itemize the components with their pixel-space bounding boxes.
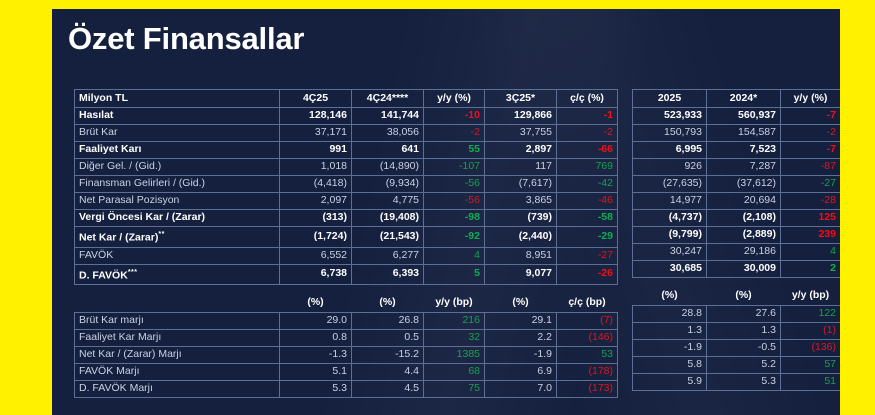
cell-value-3-2: -87 [781, 159, 841, 176]
cell-value-faaliyet-kari-0: 991 [280, 142, 352, 159]
cell-value-5-0: 14,977 [633, 193, 707, 210]
cell-margin-2-0: -1.9 [633, 340, 707, 357]
cell-margin-d-favok-marji-4: (173) [557, 381, 618, 398]
table-row: Brüt Kar marjı29.026.821629.1(7) [75, 313, 618, 330]
cell-value-faaliyet-kari-4: -66 [557, 142, 618, 159]
cell-value-d-favok-3: 9,077 [485, 264, 557, 285]
column-header-3c25: 3Ç25* [485, 90, 557, 108]
cell-margin-0-1: 27.6 [707, 306, 781, 323]
row-label-hasilat: Hasılat [75, 108, 280, 125]
cell-margin-4-2: 51 [781, 374, 841, 391]
cell-value-finansman-gelirleri-gid-2: -56 [424, 176, 485, 193]
cell-value-hasilat-2: -10 [424, 108, 485, 125]
cell-margin-1-2: (1) [781, 323, 841, 340]
cell-value-net-kar-zarar-2: -92 [424, 227, 485, 248]
cell-value-3-0: 926 [633, 159, 707, 176]
cell-margin-faaliyet-kar-marji-1: 0.5 [352, 330, 424, 347]
unit-header-5: ç/ç (bp) [557, 295, 618, 313]
table-row: Faaliyet Kar Marjı0.80.5322.2(146) [75, 330, 618, 347]
table-row: 28.827.6122 [633, 306, 841, 323]
cell-value-diger-gel-gid-1: (14,890) [352, 159, 424, 176]
cell-value-9-1: 30,009 [707, 261, 781, 278]
cell-value-vergi-oncesi-kar-zarar-4: -58 [557, 210, 618, 227]
cell-value-favok-4: -27 [557, 247, 618, 264]
cell-margin-net-kar-zarar-marji-3: -1.9 [485, 347, 557, 364]
table-row: -1.9-0.5(136) [633, 340, 841, 357]
cell-value-vergi-oncesi-kar-zarar-3: (739) [485, 210, 557, 227]
cell-value-6-1: (2,108) [707, 210, 781, 227]
cell-margin-brut-kar-marji-4: (7) [557, 313, 618, 330]
cell-margin-d-favok-marji-2: 75 [424, 381, 485, 398]
cell-value-8-1: 29,186 [707, 244, 781, 261]
cell-value-hasilat-0: 128,146 [280, 108, 352, 125]
cell-value-diger-gel-gid-2: -107 [424, 159, 485, 176]
cell-value-hasilat-4: -1 [557, 108, 618, 125]
table-row: (9,799)(2,889)239 [633, 227, 841, 244]
cell-value-finansman-gelirleri-gid-3: (7,617) [485, 176, 557, 193]
tables-container: Milyon TL4Ç254Ç24****y/y (%)3Ç25*ç/ç (%)… [74, 89, 836, 398]
cell-value-diger-gel-gid-0: 1,018 [280, 159, 352, 176]
table-row: 14,97720,694-28 [633, 193, 841, 210]
cell-value-7-0: (9,799) [633, 227, 707, 244]
cell-margin-net-kar-zarar-marji-1: -15.2 [352, 347, 424, 364]
cell-margin-3-0: 5.8 [633, 357, 707, 374]
cell-margin-brut-kar-marji-3: 29.1 [485, 313, 557, 330]
cell-value-net-parasal-pozisyon-3: 3,865 [485, 193, 557, 210]
cell-value-d-favok-0: 6,738 [280, 264, 352, 285]
unit-header-fy-2: y/y (bp) [781, 288, 841, 306]
unit-header-row: (%)(%)y/y (bp)(%)ç/ç (bp) [75, 295, 618, 313]
cell-value-1-0: 150,793 [633, 125, 707, 142]
unit-header-4: (%) [485, 295, 557, 313]
table-row: 9267,287-87 [633, 159, 841, 176]
column-header-c-c: ç/ç (%) [557, 90, 618, 108]
cell-margin-4-0: 5.9 [633, 374, 707, 391]
cell-margin-faaliyet-kar-marji-4: (146) [557, 330, 618, 347]
table-row: 30,24729,1864 [633, 244, 841, 261]
spacer-cell [75, 285, 618, 295]
cell-margin-2-2: (136) [781, 340, 841, 357]
row-label-brut-kar: Brüt Kar [75, 125, 280, 142]
column-header-2024: 2024* [707, 90, 781, 108]
table-row: 5.95.351 [633, 374, 841, 391]
cell-value-2-0: 6,995 [633, 142, 707, 159]
table-row: 5.85.257 [633, 357, 841, 374]
table-row: FAVÖK6,5526,27748,951-27 [75, 247, 618, 264]
cell-value-faaliyet-kari-1: 641 [352, 142, 424, 159]
row-label-finansman-gelirleri-gid: Finansman Gelirleri / (Gid.) [75, 176, 280, 193]
cell-margin-favok-marji-1: 4.4 [352, 364, 424, 381]
cell-value-brut-kar-2: -2 [424, 125, 485, 142]
footnote-marker: *** [128, 269, 138, 276]
cell-value-net-parasal-pozisyon-1: 4,775 [352, 193, 424, 210]
cell-value-8-2: 4 [781, 244, 841, 261]
cell-margin-d-favok-marji-0: 5.3 [280, 381, 352, 398]
cell-value-net-parasal-pozisyon-0: 2,097 [280, 193, 352, 210]
unit-header-row: (%)(%)y/y (bp) [633, 288, 841, 306]
cell-value-finansman-gelirleri-gid-1: (9,934) [352, 176, 424, 193]
cell-value-0-0: 523,933 [633, 108, 707, 125]
cell-value-1-1: 154,587 [707, 125, 781, 142]
unit-header-fy-1: (%) [707, 288, 781, 306]
column-header-y-y: y/y (%) [781, 90, 841, 108]
cell-value-net-kar-zarar-0: (1,724) [280, 227, 352, 248]
table-row: 30,68530,0092 [633, 261, 841, 278]
column-header-y-y: y/y (%) [424, 90, 485, 108]
section-spacer [75, 285, 618, 295]
row-label-net-parasal-pozisyon: Net Parasal Pozisyon [75, 193, 280, 210]
table-row: (4,737)(2,108)125 [633, 210, 841, 227]
table-row: Vergi Öncesi Kar / (Zarar)(313)(19,408)-… [75, 210, 618, 227]
table-row: 1.31.3(1) [633, 323, 841, 340]
cell-value-4-1: (37,612) [707, 176, 781, 193]
slide-canvas: Özet Finansallar Milyon TL4Ç254Ç24****y/… [0, 0, 875, 415]
cell-value-net-kar-zarar-1: (21,543) [352, 227, 424, 248]
table-row: 6,9957,523-7 [633, 142, 841, 159]
cell-value-net-parasal-pozisyon-2: -56 [424, 193, 485, 210]
cell-value-9-0: 30,685 [633, 261, 707, 278]
cell-value-brut-kar-1: 38,056 [352, 125, 424, 142]
cell-value-d-favok-1: 6,393 [352, 264, 424, 285]
cell-value-favok-2: 4 [424, 247, 485, 264]
cell-margin-net-kar-zarar-marji-0: -1.3 [280, 347, 352, 364]
unit-header-fy-0: (%) [633, 288, 707, 306]
row-label-favok: FAVÖK [75, 247, 280, 264]
table-row: D. FAVÖK Marjı5.34.5757.0(173) [75, 381, 618, 398]
unit-header-2: (%) [352, 295, 424, 313]
cell-margin-3-1: 5.2 [707, 357, 781, 374]
cell-value-brut-kar-4: -2 [557, 125, 618, 142]
spacer-cell [633, 278, 841, 288]
quarterly-table-head: Milyon TL4Ç254Ç24****y/y (%)3Ç25*ç/ç (%) [75, 90, 618, 108]
cell-value-5-2: -28 [781, 193, 841, 210]
cell-value-vergi-oncesi-kar-zarar-0: (313) [280, 210, 352, 227]
cell-value-1-2: -2 [781, 125, 841, 142]
cell-value-brut-kar-0: 37,171 [280, 125, 352, 142]
table-row: FAVÖK Marjı5.14.4686.9(178) [75, 364, 618, 381]
cell-value-6-0: (4,737) [633, 210, 707, 227]
row-label-d-favok-marji: D. FAVÖK Marjı [75, 381, 280, 398]
table-row: D. FAVÖK***6,7386,39359,077-26 [75, 264, 618, 285]
cell-margin-brut-kar-marji-1: 26.8 [352, 313, 424, 330]
cell-margin-brut-kar-marji-2: 216 [424, 313, 485, 330]
cell-value-0-2: -7 [781, 108, 841, 125]
table-row: (27,635)(37,612)-27 [633, 176, 841, 193]
cell-value-diger-gel-gid-3: 117 [485, 159, 557, 176]
cell-margin-favok-marji-2: 68 [424, 364, 485, 381]
cell-value-9-2: 2 [781, 261, 841, 278]
page-title: Özet Finansallar [68, 21, 304, 57]
column-header-milyon-tl: Milyon TL [75, 90, 280, 108]
cell-margin-faaliyet-kar-marji-0: 0.8 [280, 330, 352, 347]
cell-margin-d-favok-marji-3: 7.0 [485, 381, 557, 398]
cell-margin-1-1: 1.3 [707, 323, 781, 340]
table-header-row: Milyon TL4Ç254Ç24****y/y (%)3Ç25*ç/ç (%) [75, 90, 618, 108]
annual-table-head: 20252024*y/y (%) [633, 90, 841, 108]
cell-value-finansman-gelirleri-gid-4: -42 [557, 176, 618, 193]
cell-value-hasilat-3: 129,866 [485, 108, 557, 125]
cell-value-8-0: 30,247 [633, 244, 707, 261]
cell-value-d-favok-2: 5 [424, 264, 485, 285]
cell-value-6-2: 125 [781, 210, 841, 227]
column-header-4c24: 4Ç24**** [352, 90, 424, 108]
annual-table: 20252024*y/y (%) 523,933560,937-7150,793… [632, 89, 840, 391]
cell-margin-3-2: 57 [781, 357, 841, 374]
cell-value-diger-gel-gid-4: 769 [557, 159, 618, 176]
cell-margin-0-0: 28.8 [633, 306, 707, 323]
row-label-favok-marji: FAVÖK Marjı [75, 364, 280, 381]
cell-value-2-2: -7 [781, 142, 841, 159]
cell-value-finansman-gelirleri-gid-0: (4,418) [280, 176, 352, 193]
cell-margin-faaliyet-kar-marji-2: 32 [424, 330, 485, 347]
column-header-4c25: 4Ç25 [280, 90, 352, 108]
row-label-net-kar-zarar-marji: Net Kar / (Zarar) Marjı [75, 347, 280, 364]
cell-margin-1-0: 1.3 [633, 323, 707, 340]
cell-value-favok-1: 6,277 [352, 247, 424, 264]
cell-margin-favok-marji-0: 5.1 [280, 364, 352, 381]
table-row: Net Kar / (Zarar) Marjı-1.3-15.21385-1.9… [75, 347, 618, 364]
table-row: Net Parasal Pozisyon2,0974,775-563,865-4… [75, 193, 618, 210]
unit-header-1: (%) [280, 295, 352, 313]
row-label-brut-kar-marji: Brüt Kar marjı [75, 313, 280, 330]
annual-table-body: 523,933560,937-7150,793154,587-26,9957,5… [633, 108, 841, 391]
cell-value-3-1: 7,287 [707, 159, 781, 176]
cell-margin-2-1: -0.5 [707, 340, 781, 357]
quarterly-table-body: Hasılat128,146141,744-10129,866-1Brüt Ka… [75, 108, 618, 398]
table-row: 150,793154,587-2 [633, 125, 841, 142]
cell-value-net-parasal-pozisyon-4: -46 [557, 193, 618, 210]
cell-value-7-2: 239 [781, 227, 841, 244]
unit-header-3: y/y (bp) [424, 295, 485, 313]
cell-margin-4-1: 5.3 [707, 374, 781, 391]
cell-margin-favok-marji-4: (178) [557, 364, 618, 381]
table-row: Hasılat128,146141,744-10129,866-1 [75, 108, 618, 125]
cell-value-0-1: 560,937 [707, 108, 781, 125]
row-label-vergi-oncesi-kar-zarar: Vergi Öncesi Kar / (Zarar) [75, 210, 280, 227]
column-header-2025: 2025 [633, 90, 707, 108]
cell-margin-favok-marji-3: 6.9 [485, 364, 557, 381]
row-label-faaliyet-kar-marji: Faaliyet Kar Marjı [75, 330, 280, 347]
row-label-d-favok: D. FAVÖK*** [75, 264, 280, 285]
table-row: Brüt Kar37,17138,056-237,755-2 [75, 125, 618, 142]
cell-value-vergi-oncesi-kar-zarar-1: (19,408) [352, 210, 424, 227]
cell-value-4-0: (27,635) [633, 176, 707, 193]
cell-value-faaliyet-kari-3: 2,897 [485, 142, 557, 159]
cell-value-d-favok-4: -26 [557, 264, 618, 285]
cell-value-net-kar-zarar-4: -29 [557, 227, 618, 248]
cell-margin-0-2: 122 [781, 306, 841, 323]
row-label-net-kar-zarar: Net Kar / (Zarar)** [75, 227, 280, 248]
table-header-row: 20252024*y/y (%) [633, 90, 841, 108]
cell-margin-net-kar-zarar-marji-4: 53 [557, 347, 618, 364]
cell-value-2-1: 7,523 [707, 142, 781, 159]
cell-value-4-2: -27 [781, 176, 841, 193]
cell-margin-faaliyet-kar-marji-3: 2.2 [485, 330, 557, 347]
cell-value-net-kar-zarar-3: (2,440) [485, 227, 557, 248]
unit-header-0 [75, 295, 280, 313]
cell-value-vergi-oncesi-kar-zarar-2: -98 [424, 210, 485, 227]
table-row: 523,933560,937-7 [633, 108, 841, 125]
footnote-marker: ** [158, 231, 164, 238]
cell-value-7-1: (2,889) [707, 227, 781, 244]
content-panel: Özet Finansallar Milyon TL4Ç254Ç24****y/… [52, 9, 840, 415]
table-row: Net Kar / (Zarar)**(1,724)(21,543)-92(2,… [75, 227, 618, 248]
cell-value-5-1: 20,694 [707, 193, 781, 210]
cell-value-favok-0: 6,552 [280, 247, 352, 264]
cell-value-brut-kar-3: 37,755 [485, 125, 557, 142]
cell-margin-net-kar-zarar-marji-2: 1385 [424, 347, 485, 364]
row-label-faaliyet-kari: Faaliyet Karı [75, 142, 280, 159]
section-spacer [633, 278, 841, 288]
table-row: Faaliyet Karı991641552,897-66 [75, 142, 618, 159]
table-row: Finansman Gelirleri / (Gid.)(4,418)(9,93… [75, 176, 618, 193]
cell-value-faaliyet-kari-2: 55 [424, 142, 485, 159]
row-label-diger-gel-gid: Diğer Gel. / (Gid.) [75, 159, 280, 176]
quarterly-table: Milyon TL4Ç254Ç24****y/y (%)3Ç25*ç/ç (%)… [74, 89, 618, 398]
cell-value-hasilat-1: 141,744 [352, 108, 424, 125]
cell-margin-d-favok-marji-1: 4.5 [352, 381, 424, 398]
cell-value-favok-3: 8,951 [485, 247, 557, 264]
cell-margin-brut-kar-marji-0: 29.0 [280, 313, 352, 330]
table-row: Diğer Gel. / (Gid.)1,018(14,890)-1071177… [75, 159, 618, 176]
